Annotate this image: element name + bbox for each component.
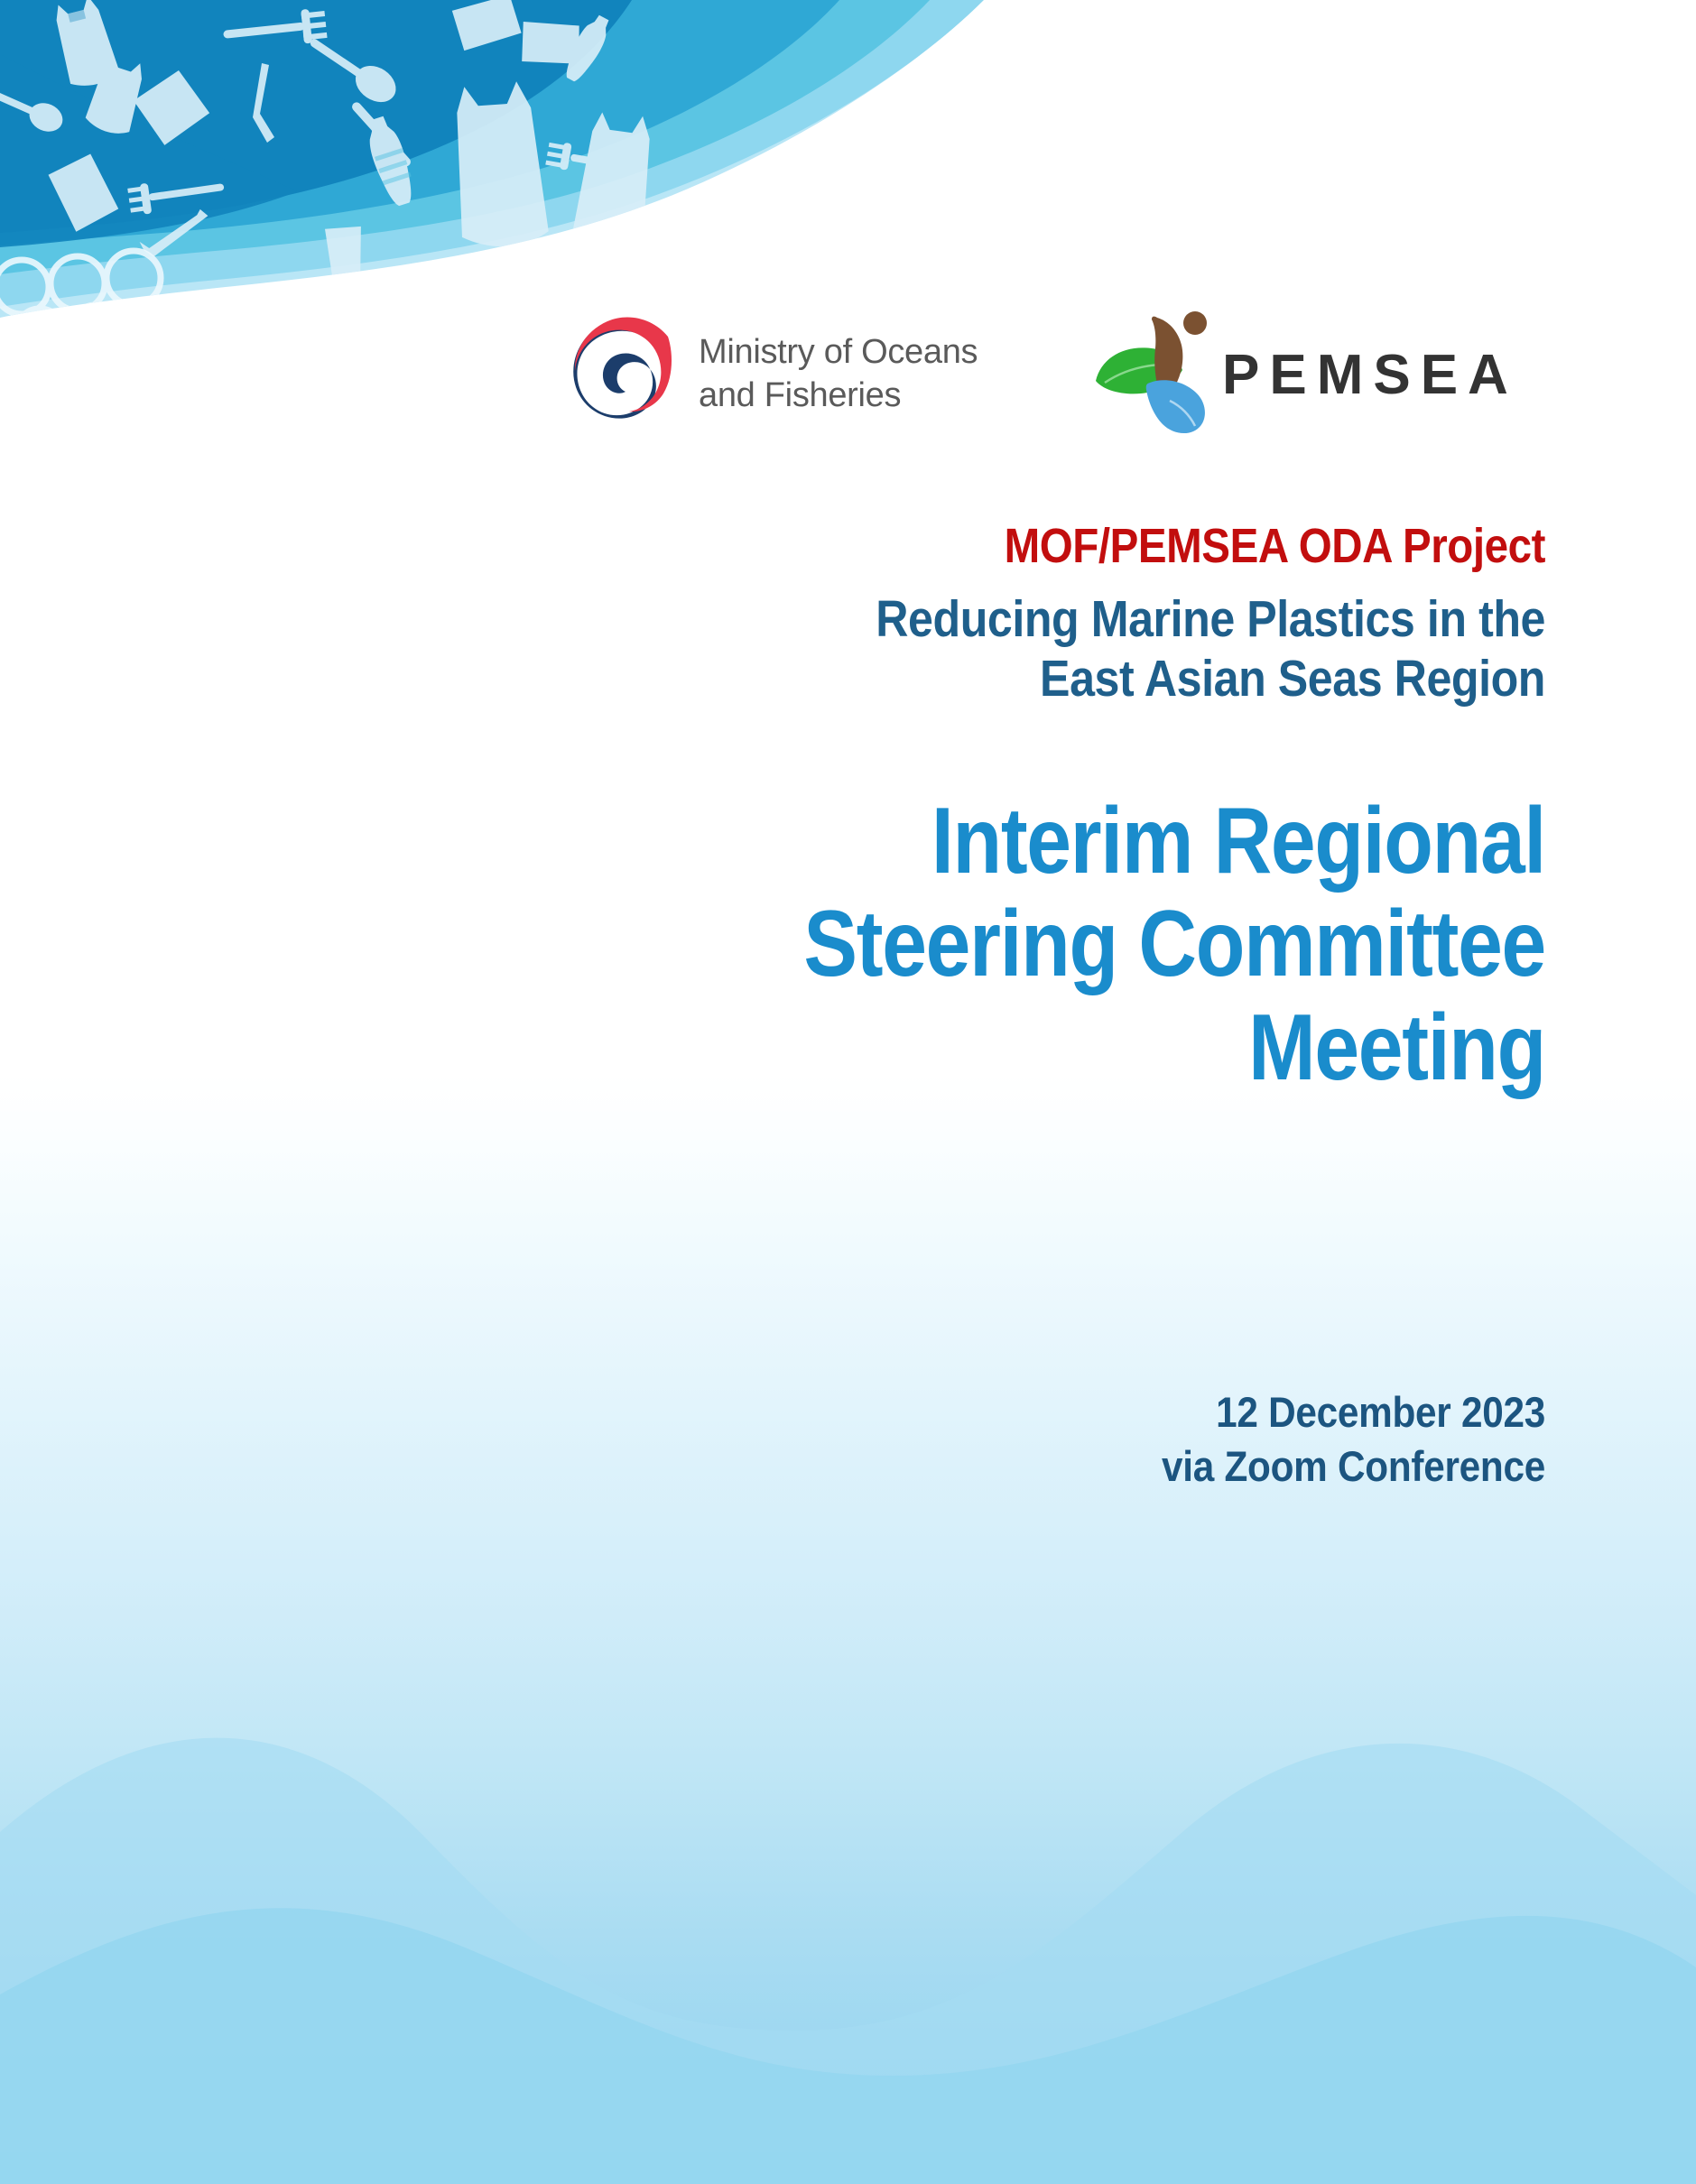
project-name: Reducing Marine Plastics in the East Asi… xyxy=(487,589,1545,708)
pemsea-logo-text: PEMSEA xyxy=(1222,343,1518,407)
figure-head-icon xyxy=(1183,311,1207,335)
meeting-title-line-1: Interim Regional xyxy=(511,790,1545,893)
plastic-cup-icon xyxy=(325,227,366,294)
meeting-title-line-2: Steering Committee xyxy=(511,893,1545,995)
fish-icon xyxy=(1146,380,1205,433)
cover-page: Ministry of Oceans and Fisheries PEMSEA … xyxy=(0,0,1696,2184)
pemsea-logo: PEMSEA xyxy=(1092,307,1518,442)
bottom-wave-graphic xyxy=(0,1606,1696,2184)
pemsea-mark-icon xyxy=(1092,307,1237,442)
korea-taegeuk-emblem-icon xyxy=(560,311,686,438)
project-name-line-1: Reducing Marine Plastics in the xyxy=(487,589,1545,649)
logo-row: Ministry of Oceans and Fisheries PEMSEA xyxy=(560,307,1562,469)
project-label: MOF/PEMSEA ODA Project xyxy=(487,519,1545,575)
event-details: 12 December 2023 via Zoom Conference xyxy=(723,1385,1545,1494)
event-venue: via Zoom Conference xyxy=(723,1439,1545,1494)
marine-plastic-banner xyxy=(0,0,1065,343)
mof-logo: Ministry of Oceans and Fisheries xyxy=(560,311,978,438)
meeting-title-line-3: Meeting xyxy=(511,996,1545,1099)
title-block: MOF/PEMSEA ODA Project Reducing Marine P… xyxy=(343,519,1545,1099)
mof-logo-text: Ministry of Oceans and Fisheries xyxy=(699,331,978,418)
meeting-title: Interim Regional Steering Committee Meet… xyxy=(511,790,1545,1099)
project-name-line-2: East Asian Seas Region xyxy=(487,649,1545,708)
event-date: 12 December 2023 xyxy=(723,1385,1545,1439)
